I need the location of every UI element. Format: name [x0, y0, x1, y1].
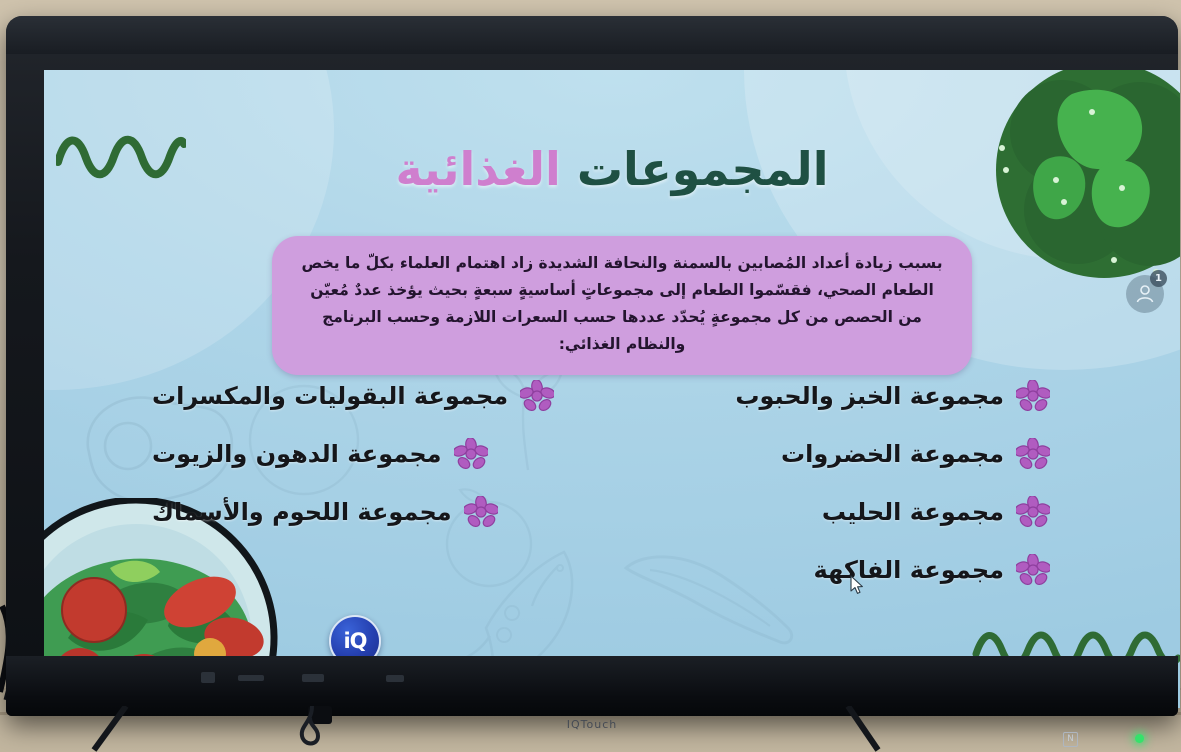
list-item[interactable]: مجموعة الحليب	[720, 496, 1050, 528]
list-item-label: مجموعة الدهون والزيوت	[152, 440, 442, 468]
slide-title-accent: الغذائية	[396, 142, 561, 196]
slide-title: المجموعات الغذائية	[44, 142, 1180, 196]
list-item-label: مجموعة الخبز والحبوب	[735, 382, 1004, 410]
flower-bullet-icon	[1016, 438, 1050, 470]
interactive-display-chassis: المجموعات الغذائية بسبب زيادة أعداد المُ…	[6, 16, 1178, 716]
list-item-label: مجموعة الحليب	[822, 498, 1004, 526]
iq-logo-text: iQ	[343, 629, 366, 653]
list-item[interactable]: مجموعة الدهون والزيوت	[152, 438, 584, 470]
food-group-list-left: مجموعة البقوليات والمكسرات مجموعة الدهون…	[152, 380, 584, 554]
list-item-label: مجموعة الفاكهة	[814, 556, 1004, 584]
flower-bullet-icon	[1016, 380, 1050, 412]
list-item-label: مجموعة اللحوم والأسماك	[152, 498, 452, 526]
intro-paragraph-card: بسبب زيادة أعداد المُصابين بالسمنة والنح…	[272, 236, 972, 375]
list-item[interactable]: مجموعة البقوليات والمكسرات	[152, 380, 584, 412]
food-group-list-right: مجموعة الخبز والحبوب مجموعة الخضروات	[720, 380, 1050, 612]
person-icon	[1134, 283, 1156, 305]
nfc-icon: N	[1063, 732, 1078, 747]
list-item[interactable]: مجموعة الفاكهة	[720, 554, 1050, 586]
port-audio	[386, 675, 404, 682]
flower-bullet-icon	[1016, 554, 1050, 586]
port-usb-1	[201, 672, 215, 683]
port-hdmi-1	[238, 675, 264, 681]
flower-bullet-icon	[454, 438, 488, 470]
slide-canvas[interactable]: المجموعات الغذائية بسبب زيادة أعداد المُ…	[44, 70, 1180, 708]
list-item[interactable]: مجموعة الخضروات	[720, 438, 1050, 470]
stand-leg-left	[90, 706, 230, 752]
top-bezel	[6, 16, 1178, 54]
hanging-cable	[286, 706, 366, 752]
intro-paragraph-text: بسبب زيادة أعداد المُصابين بالسمنة والنح…	[298, 250, 946, 359]
stand-leg-right	[820, 706, 960, 752]
avatar-notification-badge: 1	[1150, 270, 1167, 287]
flower-bullet-icon	[520, 380, 554, 412]
slide-title-main: المجموعات	[577, 142, 829, 196]
mouse-cursor	[850, 575, 864, 595]
flower-bullet-icon	[464, 496, 498, 528]
avatar-badge-count: 1	[1155, 273, 1162, 284]
list-item-label: مجموعة البقوليات والمكسرات	[152, 382, 508, 410]
flower-bullet-icon	[1016, 496, 1050, 528]
list-item-label: مجموعة الخضروات	[781, 440, 1004, 468]
port-hdmi-2	[302, 674, 324, 682]
device-brand-label: IQTouch	[567, 718, 617, 731]
power-led-indicator	[1135, 734, 1144, 743]
list-item[interactable]: مجموعة اللحوم والأسماك	[152, 496, 584, 528]
list-item[interactable]: مجموعة الخبز والحبوب	[720, 380, 1050, 412]
